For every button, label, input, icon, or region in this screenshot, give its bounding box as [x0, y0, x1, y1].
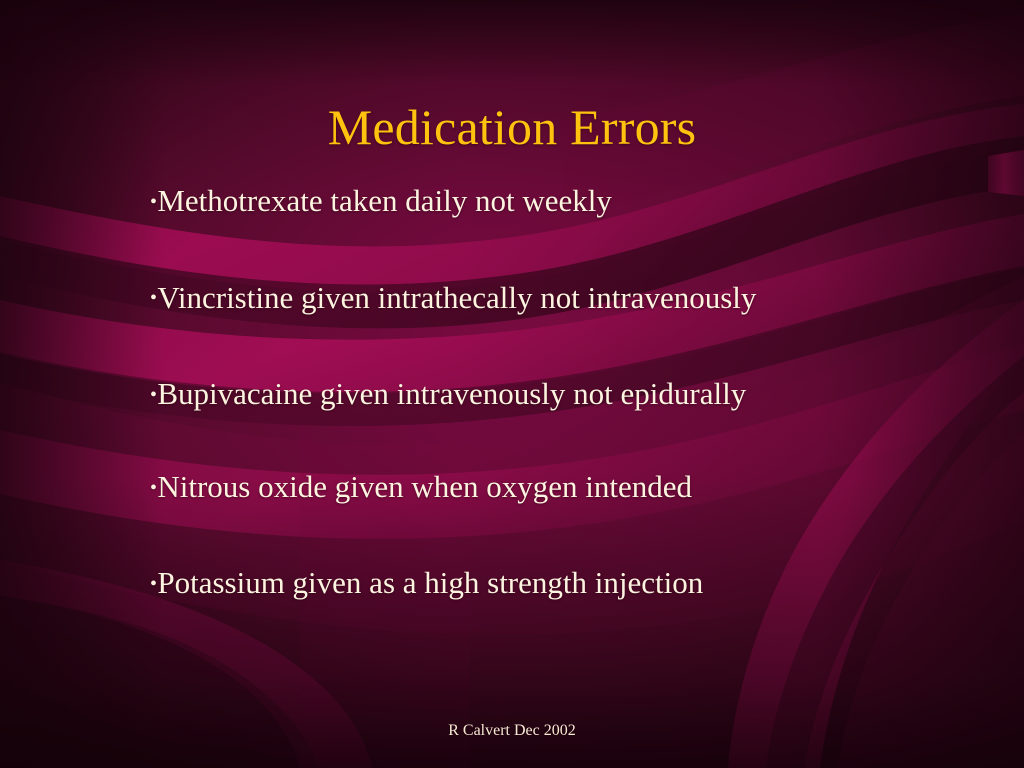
list-item: •Methotrexate taken daily not weekly — [150, 185, 990, 217]
slide-footer: R Calvert Dec 2002 — [0, 722, 1024, 740]
presentation-slide: Medication Errors •Methotrexate taken da… — [0, 0, 1024, 768]
slide-content: Medication Errors •Methotrexate taken da… — [0, 0, 1024, 768]
bullet-icon: • — [150, 192, 157, 212]
page-title: Medication Errors — [0, 101, 1024, 154]
list-item-label: Bupivacaine given intravenously not epid… — [157, 376, 746, 411]
bullet-list: •Methotrexate taken daily not weekly •Vi… — [150, 185, 990, 599]
bullet-icon: • — [150, 574, 157, 594]
list-item-label: Vincristine given intrathecally not intr… — [157, 280, 756, 315]
list-item: •Potassium given as a high strength inje… — [150, 567, 990, 599]
list-item: •Nitrous oxide given when oxygen intende… — [150, 471, 990, 503]
bullet-icon: • — [150, 478, 157, 498]
list-item-label: Methotrexate taken daily not weekly — [157, 183, 612, 218]
list-item: •Bupivacaine given intravenously not epi… — [150, 378, 990, 410]
list-item-label: Nitrous oxide given when oxygen intended — [157, 469, 692, 504]
list-item-label: Potassium given as a high strength injec… — [157, 565, 703, 600]
bullet-icon: • — [150, 385, 157, 405]
bullet-icon: • — [150, 288, 157, 308]
list-item: •Vincristine given intrathecally not int… — [150, 282, 990, 314]
